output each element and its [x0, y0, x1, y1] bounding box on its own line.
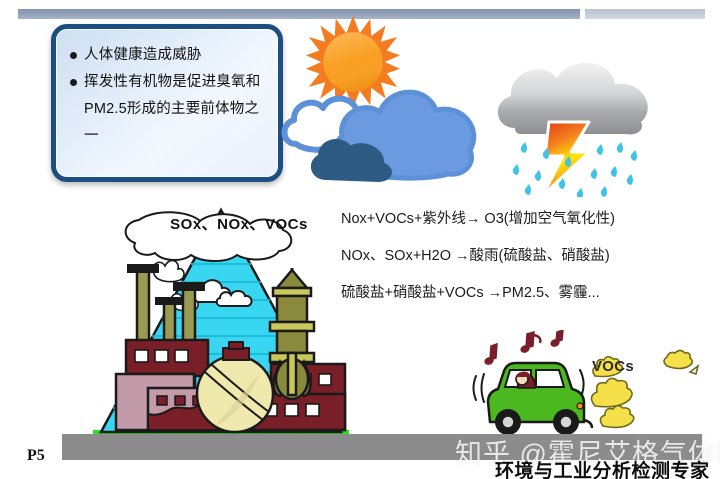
slide-canvas: 人体健康造成威胁 挥发性有机物是促进臭氧和PM2.5形成的主要前体物之一	[0, 0, 720, 479]
top-decor-bar-left	[18, 9, 580, 19]
bullet-dot-icon	[70, 79, 77, 86]
equation-list: Nox+VOCs+紫外线→ O3(增加空气氧化性) NOx、SOx+H2O →酸…	[341, 211, 713, 322]
voc-exhaust-clouds-icon	[585, 330, 705, 440]
callout-bullet-2-text: 挥发性有机物是促进臭氧和PM2.5形成的主要前体物之一	[84, 69, 268, 150]
callout-box: 人体健康造成威胁 挥发性有机物是促进臭氧和PM2.5形成的主要前体物之一	[51, 24, 283, 182]
footer-text: 环境与工业分析检测专家	[495, 456, 710, 479]
equation-2: NOx、SOx+H2O →酸雨(硫酸盐、硝酸盐)	[341, 248, 713, 265]
storm-cloud-lightning-icon	[485, 52, 660, 197]
top-decor-bar-right	[585, 9, 705, 19]
page-number: P5	[27, 447, 45, 465]
cloud-icon	[280, 52, 500, 182]
callout-bullet-1: 人体健康造成威胁	[70, 42, 268, 69]
equation-1: Nox+VOCs+紫外线→ O3(增加空气氧化性)	[341, 211, 713, 228]
vocs-label: VOCs	[592, 358, 634, 375]
bullet-dot-icon	[70, 52, 77, 59]
equation-3: 硫酸盐+硝酸盐+VOCs →PM2.5、雾霾...	[341, 285, 713, 302]
callout-bullet-1-text: 人体健康造成威胁	[84, 42, 268, 69]
emission-label: SOx、NOx、VOCs	[146, 212, 332, 238]
callout-bullet-2: 挥发性有机物是促进臭氧和PM2.5形成的主要前体物之一	[70, 69, 268, 150]
